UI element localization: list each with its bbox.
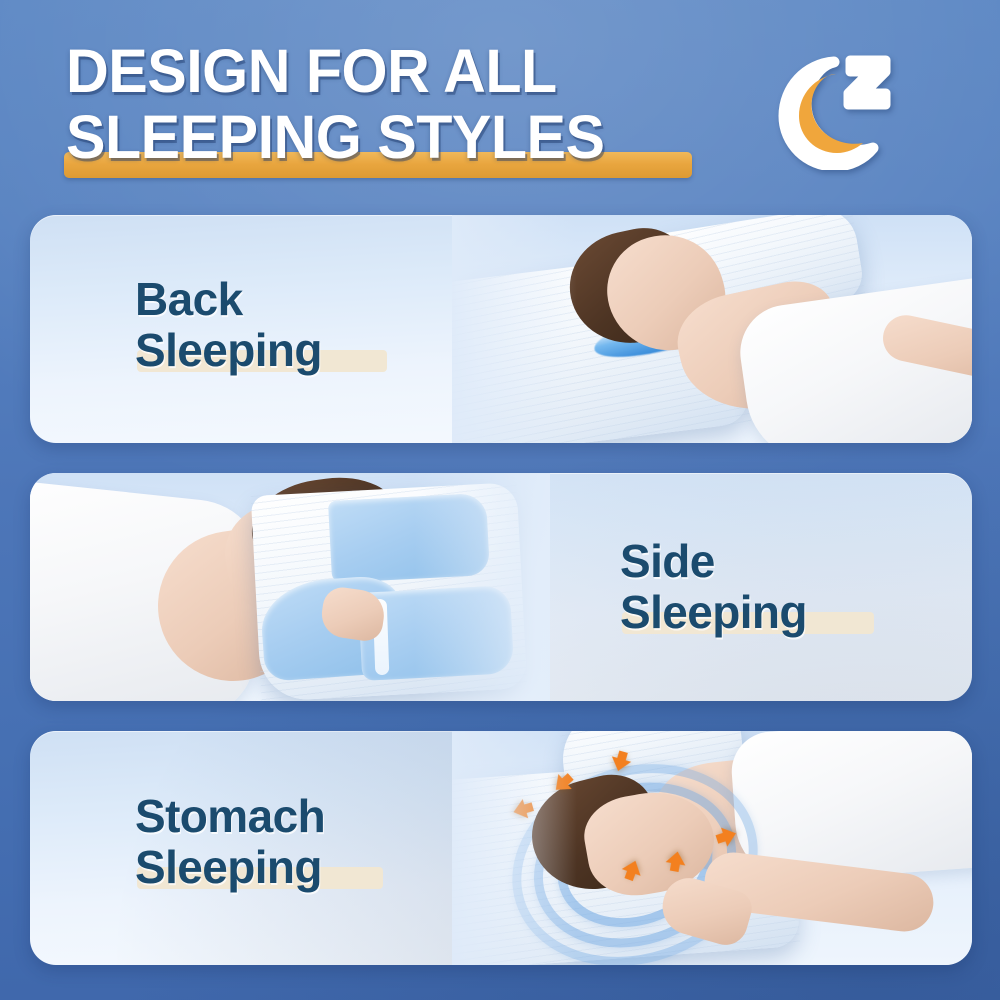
card-back-sleeping[interactable]: Back Sleeping (30, 215, 972, 443)
header: DESIGN FOR ALL SLEEPING STYLES z (0, 0, 1000, 200)
side-sleeping-photo (30, 473, 550, 701)
back-sleeping-photo (452, 215, 972, 443)
label-line-2: Sleeping (135, 325, 495, 376)
infographic-poster: DESIGN FOR ALL SLEEPING STYLES z (0, 0, 1000, 1000)
label-line-1: Stomach (135, 791, 495, 842)
card-label-back-sleeping: Back Sleeping (135, 274, 495, 376)
page-title: DESIGN FOR ALL SLEEPING STYLES (66, 40, 766, 168)
moon-z-icon: z (770, 48, 892, 170)
label-line-2: Sleeping (135, 842, 495, 893)
label-line-2: Sleeping (620, 587, 972, 638)
title-line-1: DESIGN FOR ALL (66, 40, 745, 102)
card-stomach-sleeping[interactable]: Stomach Sleeping (30, 731, 972, 965)
label-line-1: Side (620, 536, 972, 587)
card-side-sleeping[interactable]: Side Sleeping (30, 473, 972, 701)
title-line-2: SLEEPING STYLES (66, 106, 745, 168)
stomach-sleeping-photo (452, 731, 972, 965)
label-line-1: Back (135, 274, 495, 325)
z-letter (848, 60, 886, 105)
card-label-stomach-sleeping: Stomach Sleeping (135, 791, 495, 893)
card-label-side-sleeping: Side Sleeping (620, 536, 972, 638)
gel-pad-upper (328, 493, 490, 583)
